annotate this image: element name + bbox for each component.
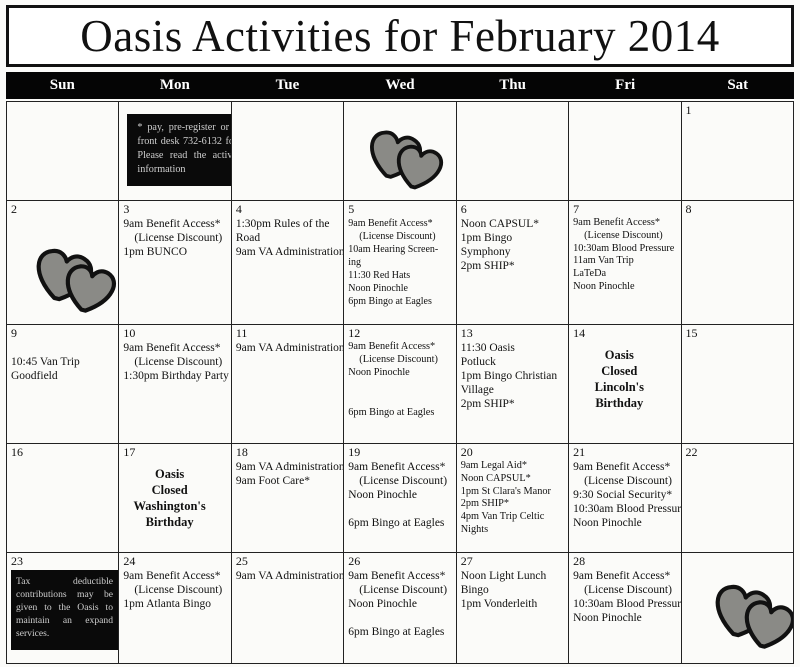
event-item: (License Discount)	[573, 474, 677, 488]
calendar-day-cell-22[interactable]: 22	[682, 444, 793, 552]
calendar-day-cell-7[interactable]: 79am Benefit Access*(License Discount)10…	[569, 201, 681, 324]
event-item: (License Discount)	[348, 354, 452, 367]
calendar-day-cell-23[interactable]: 23Tax deductible contributions may be gi…	[7, 553, 119, 663]
day-event-list: 9am VA Administration	[236, 569, 340, 583]
event-item: 9am Benefit Access*	[348, 460, 452, 474]
calendar-day-cell-empty[interactable]	[569, 102, 681, 200]
calendar-day-cell-12[interactable]: 129am Benefit Access*(License Discount)N…	[344, 325, 456, 443]
calendar-day-cell-8[interactable]: 8	[682, 201, 793, 324]
calendar-day-cell-2[interactable]: 2	[7, 201, 119, 324]
event-item: 9:30 Social Security*	[573, 488, 677, 502]
calendar-day-cell-28[interactable]: 289am Benefit Access*(License Discount)1…	[569, 553, 681, 663]
event-item: 6pm Bingo at Eagles	[348, 407, 452, 420]
calendar-grid: * pay, pre-register or make an appointme…	[6, 101, 794, 664]
calendar-week-row: 23Tax deductible contributions may be gi…	[7, 553, 793, 663]
weekday-header-wed: Wed	[344, 72, 457, 99]
event-item: 9am Foot Care*	[236, 474, 340, 488]
event-item: (License Discount)	[573, 230, 677, 243]
day-event-list: 9am Benefit Access*(License Discount)10a…	[348, 217, 452, 308]
weekday-header-sun: Sun	[6, 72, 119, 99]
event-item: 1pm St Clara's Manor	[461, 486, 565, 499]
calendar-day-cell-26[interactable]: 269am Benefit Access*(License Discount)N…	[344, 553, 456, 663]
calendar-day-cell-empty[interactable]	[344, 102, 456, 200]
event-item: 9am VA Administration	[236, 341, 340, 355]
event-item: Potluck	[461, 355, 565, 369]
event-item: (License Discount)	[348, 230, 452, 243]
event-item: 2pm SHIP*	[461, 397, 565, 411]
event-item: 11:30 Oasis	[461, 341, 565, 355]
calendar-day-cell-27[interactable]: 27Noon Light LunchBingo1pm Vonderleith	[457, 553, 569, 663]
day-number: 26	[348, 555, 452, 568]
day-event-list: 1:30pm Rules of theRoad9am VA Administra…	[236, 217, 340, 259]
closed-notice-line: Birthday	[123, 514, 215, 530]
oasis-closed-notice: OasisClosedWashington'sBirthday	[123, 466, 227, 530]
calendar-day-cell-5[interactable]: 59am Benefit Access*(License Discount)10…	[344, 201, 456, 324]
hearts-decoration-icon	[696, 571, 793, 660]
calendar-day-cell-4[interactable]: 41:30pm Rules of theRoad9am VA Administr…	[232, 201, 344, 324]
event-item: 9am Benefit Access*	[123, 569, 227, 583]
event-item: (License Discount)	[123, 583, 227, 597]
event-item: Nights	[461, 524, 565, 537]
event-item: 10:45 Van Trip	[11, 355, 115, 369]
event-item: ing	[348, 256, 452, 269]
calendar-week-row: 910:45 Van TripGoodfield109am Benefit Ac…	[7, 325, 793, 444]
event-item: (License Discount)	[573, 583, 677, 597]
day-event-list: 9am Benefit Access*(License Discount)1pm…	[123, 217, 227, 259]
day-number: 24	[123, 555, 227, 568]
event-item: Noon Pinochle	[348, 282, 452, 295]
closed-notice-line: Birthday	[573, 395, 665, 411]
calendar-day-cell-10[interactable]: 109am Benefit Access*(License Discount)1…	[119, 325, 231, 443]
event-item: 1pm Atlanta Bingo	[123, 597, 227, 611]
day-number: 16	[11, 446, 115, 459]
day-event-list: 11:30 OasisPotluck1pm Bingo ChristianVil…	[461, 341, 565, 411]
page-title: Oasis Activities for February 2014	[80, 14, 719, 59]
event-item: LaTeDa	[573, 268, 677, 281]
day-number: 19	[348, 446, 452, 459]
event-item: 6pm Bingo at Eagles	[348, 295, 452, 308]
event-item: 9am VA Administration	[236, 245, 340, 259]
day-number: 20	[461, 446, 565, 459]
closed-notice-line: Washington's	[123, 498, 215, 514]
calendar-day-cell-17[interactable]: 17OasisClosedWashington'sBirthday	[119, 444, 231, 552]
event-spacer	[11, 341, 115, 355]
event-item: (License Discount)	[123, 231, 227, 245]
event-item: 9am Benefit Access*	[348, 569, 452, 583]
day-number: 7	[573, 203, 677, 216]
day-number: 23	[11, 555, 115, 568]
event-item: Noon Pinochle	[573, 281, 677, 294]
day-event-list: 10:45 Van TripGoodfield	[11, 341, 115, 383]
hearts-decoration-icon	[17, 235, 117, 324]
event-item: 11am Van Trip	[573, 255, 677, 268]
event-item: 9am VA Administration	[236, 569, 340, 583]
event-item: 6pm Bingo at Eagles	[348, 625, 452, 639]
day-event-list: Noon Light LunchBingo1pm Vonderleith	[461, 569, 565, 611]
event-item: Noon Pinochle	[348, 488, 452, 502]
event-item: Noon Pinochle	[573, 516, 677, 530]
calendar-week-row: * pay, pre-register or make an appointme…	[7, 102, 793, 201]
event-item: Noon Pinochle	[573, 611, 677, 625]
event-item: 1pm Bingo Christian	[461, 369, 565, 383]
closed-notice-line: Closed	[123, 482, 215, 498]
weekday-header-fri: Fri	[569, 72, 682, 99]
day-event-list: 9am Benefit Access*(License Discount)Noo…	[348, 460, 452, 530]
day-number: 8	[686, 203, 790, 216]
event-item: Noon CAPSUL*	[461, 217, 565, 231]
event-item: Bingo	[461, 583, 565, 597]
calendar-day-cell-9[interactable]: 910:45 Van TripGoodfield	[7, 325, 119, 443]
day-event-list: 9am VA Administration9am Foot Care*	[236, 460, 340, 488]
day-event-list: 9am VA Administration	[236, 341, 340, 355]
oasis-closed-notice: OasisClosedLincoln'sBirthday	[573, 347, 677, 411]
calendar-day-cell-11[interactable]: 119am VA Administration	[232, 325, 344, 443]
weekday-header-sat: Sat	[681, 72, 794, 99]
event-item: Noon Pinochle	[348, 597, 452, 611]
day-number: 4	[236, 203, 340, 216]
event-item: 6pm Bingo at Eagles	[348, 516, 452, 530]
event-item: Village	[461, 383, 565, 397]
calendar-day-cell-20[interactable]: 209am Legal Aid*Noon CAPSUL*1pm St Clara…	[457, 444, 569, 552]
calendar-day-cell-25[interactable]: 259am VA Administration	[232, 553, 344, 663]
event-item: Goodfield	[11, 369, 115, 383]
calendar-page: Oasis Activities for February 2014 Sun M…	[0, 0, 800, 667]
event-item: 9am Benefit Access*	[573, 569, 677, 583]
calendar-day-cell-21[interactable]: 219am Benefit Access*(License Discount)9…	[569, 444, 681, 552]
day-event-list: 9am Benefit Access*(License Discount)1pm…	[123, 569, 227, 611]
event-item: 10am Hearing Screen-	[348, 243, 452, 256]
day-event-list: 9am Benefit Access*(License Discount)1:3…	[123, 341, 227, 383]
calendar-day-cell-18[interactable]: 189am VA Administration9am Foot Care*	[232, 444, 344, 552]
day-event-list: 9am Benefit Access*(License Discount)Noo…	[348, 569, 452, 639]
day-event-list: 9am Legal Aid*Noon CAPSUL*1pm St Clara's…	[461, 460, 565, 537]
event-item: 9am Benefit Access*	[348, 341, 452, 354]
weekday-header-mon: Mon	[119, 72, 232, 99]
event-item: (License Discount)	[348, 583, 452, 597]
day-number: 10	[123, 327, 227, 340]
day-number: 5	[348, 203, 452, 216]
day-number: 3	[123, 203, 227, 216]
calendar-title-banner: Oasis Activities for February 2014	[6, 5, 794, 67]
day-number: 1	[686, 104, 790, 117]
event-item: Road	[236, 231, 340, 245]
day-number: 11	[236, 327, 340, 340]
day-event-list: 9am Benefit Access*(License Discount)10:…	[573, 217, 677, 294]
calendar-day-cell-empty[interactable]	[457, 102, 569, 200]
event-item: 10:30am Blood Pressure	[573, 502, 677, 516]
event-item: 4pm Van Trip Celtic	[461, 511, 565, 524]
event-item: Noon Pinochle	[348, 367, 452, 380]
event-spacer	[348, 611, 452, 625]
hearts-decoration-icon	[352, 118, 444, 200]
day-number: 13	[461, 327, 565, 340]
event-item: Symphony	[461, 245, 565, 259]
calendar-day-cell-empty[interactable]	[7, 102, 119, 200]
event-item: Noon CAPSUL*	[461, 473, 565, 486]
day-event-list: Noon CAPSUL*1pm BingoSymphony2pm SHIP*	[461, 217, 565, 273]
day-number: 17	[123, 446, 227, 459]
event-item: 2pm SHIP*	[461, 259, 565, 273]
event-item: 9am Benefit Access*	[573, 460, 677, 474]
calendar-week-row: 239am Benefit Access*(License Discount)1…	[7, 201, 793, 325]
closed-notice-line: Oasis	[573, 347, 665, 363]
event-item: 9am Benefit Access*	[123, 217, 227, 231]
event-item: (License Discount)	[123, 355, 227, 369]
calendar-day-cell-16[interactable]: 16	[7, 444, 119, 552]
day-number: 21	[573, 446, 677, 459]
event-item: 9am Legal Aid*	[461, 460, 565, 473]
day-event-list: 9am Benefit Access*(License Discount)10:…	[573, 569, 677, 625]
event-item: 1:30pm Rules of the	[236, 217, 340, 231]
day-number: 15	[686, 327, 790, 340]
event-item: 1:30pm Birthday Party	[123, 369, 227, 383]
event-item: 2pm SHIP*	[461, 498, 565, 511]
weekday-header-tue: Tue	[231, 72, 344, 99]
day-number: 25	[236, 555, 340, 568]
day-number: 6	[461, 203, 565, 216]
event-item: 9am VA Administration	[236, 460, 340, 474]
day-number: 18	[236, 446, 340, 459]
day-number: 14	[573, 327, 677, 340]
day-event-list: 9am Benefit Access*(License Discount)9:3…	[573, 460, 677, 530]
day-number: 2	[11, 203, 115, 216]
tax-deductible-note-box: Tax deductible contributions may be give…	[11, 570, 119, 650]
day-number: 9	[11, 327, 115, 340]
event-item: (License Discount)	[348, 474, 452, 488]
asterisk-note-box: * pay, pre-register or make an appointme…	[127, 114, 231, 186]
event-item: 9am Benefit Access*	[123, 341, 227, 355]
event-item: 1pm Bingo	[461, 231, 565, 245]
calendar-day-cell-15[interactable]: 15	[682, 325, 793, 443]
closed-notice-line: Closed	[573, 363, 665, 379]
event-item: 1pm BUNCO	[123, 245, 227, 259]
weekday-header-row: Sun Mon Tue Wed Thu Fri Sat	[6, 72, 794, 99]
calendar-day-cell-empty[interactable]: * pay, pre-register or make an appointme…	[119, 102, 231, 200]
calendar-day-cell-empty[interactable]	[232, 102, 344, 200]
day-number: 28	[573, 555, 677, 568]
event-item: 10:30am Blood Pressure	[573, 243, 677, 256]
event-spacer	[348, 379, 452, 393]
event-item: 11:30 Red Hats	[348, 269, 452, 282]
calendar-week-row: 1617OasisClosedWashington'sBirthday189am…	[7, 444, 793, 553]
event-item: 1pm Vonderleith	[461, 597, 565, 611]
calendar-day-cell-3[interactable]: 39am Benefit Access*(License Discount)1p…	[119, 201, 231, 324]
closed-notice-line: Oasis	[123, 466, 215, 482]
calendar-day-cell-6[interactable]: 6Noon CAPSUL*1pm BingoSymphony2pm SHIP*	[457, 201, 569, 324]
calendar-day-cell-1[interactable]: 1	[682, 102, 793, 200]
day-number: 27	[461, 555, 565, 568]
calendar-day-cell-14[interactable]: 14OasisClosedLincoln'sBirthday	[569, 325, 681, 443]
calendar-day-cell-13[interactable]: 1311:30 OasisPotluck1pm Bingo ChristianV…	[457, 325, 569, 443]
event-item: 9am Benefit Access*	[573, 217, 677, 230]
calendar-day-cell-empty[interactable]	[682, 553, 793, 663]
event-spacer	[348, 393, 452, 407]
calendar-day-cell-19[interactable]: 199am Benefit Access*(License Discount)N…	[344, 444, 456, 552]
weekday-header-thu: Thu	[456, 72, 569, 99]
event-spacer	[348, 502, 452, 516]
day-number: 22	[686, 446, 790, 459]
event-item: 9am Benefit Access*	[348, 217, 452, 230]
calendar-day-cell-24[interactable]: 249am Benefit Access*(License Discount)1…	[119, 553, 231, 663]
event-item: 10:30am Blood Pressure	[573, 597, 677, 611]
event-item: Noon Light Lunch	[461, 569, 565, 583]
day-number: 12	[348, 327, 452, 340]
closed-notice-line: Lincoln's	[573, 379, 665, 395]
day-event-list: 9am Benefit Access*(License Discount)Noo…	[348, 341, 452, 420]
